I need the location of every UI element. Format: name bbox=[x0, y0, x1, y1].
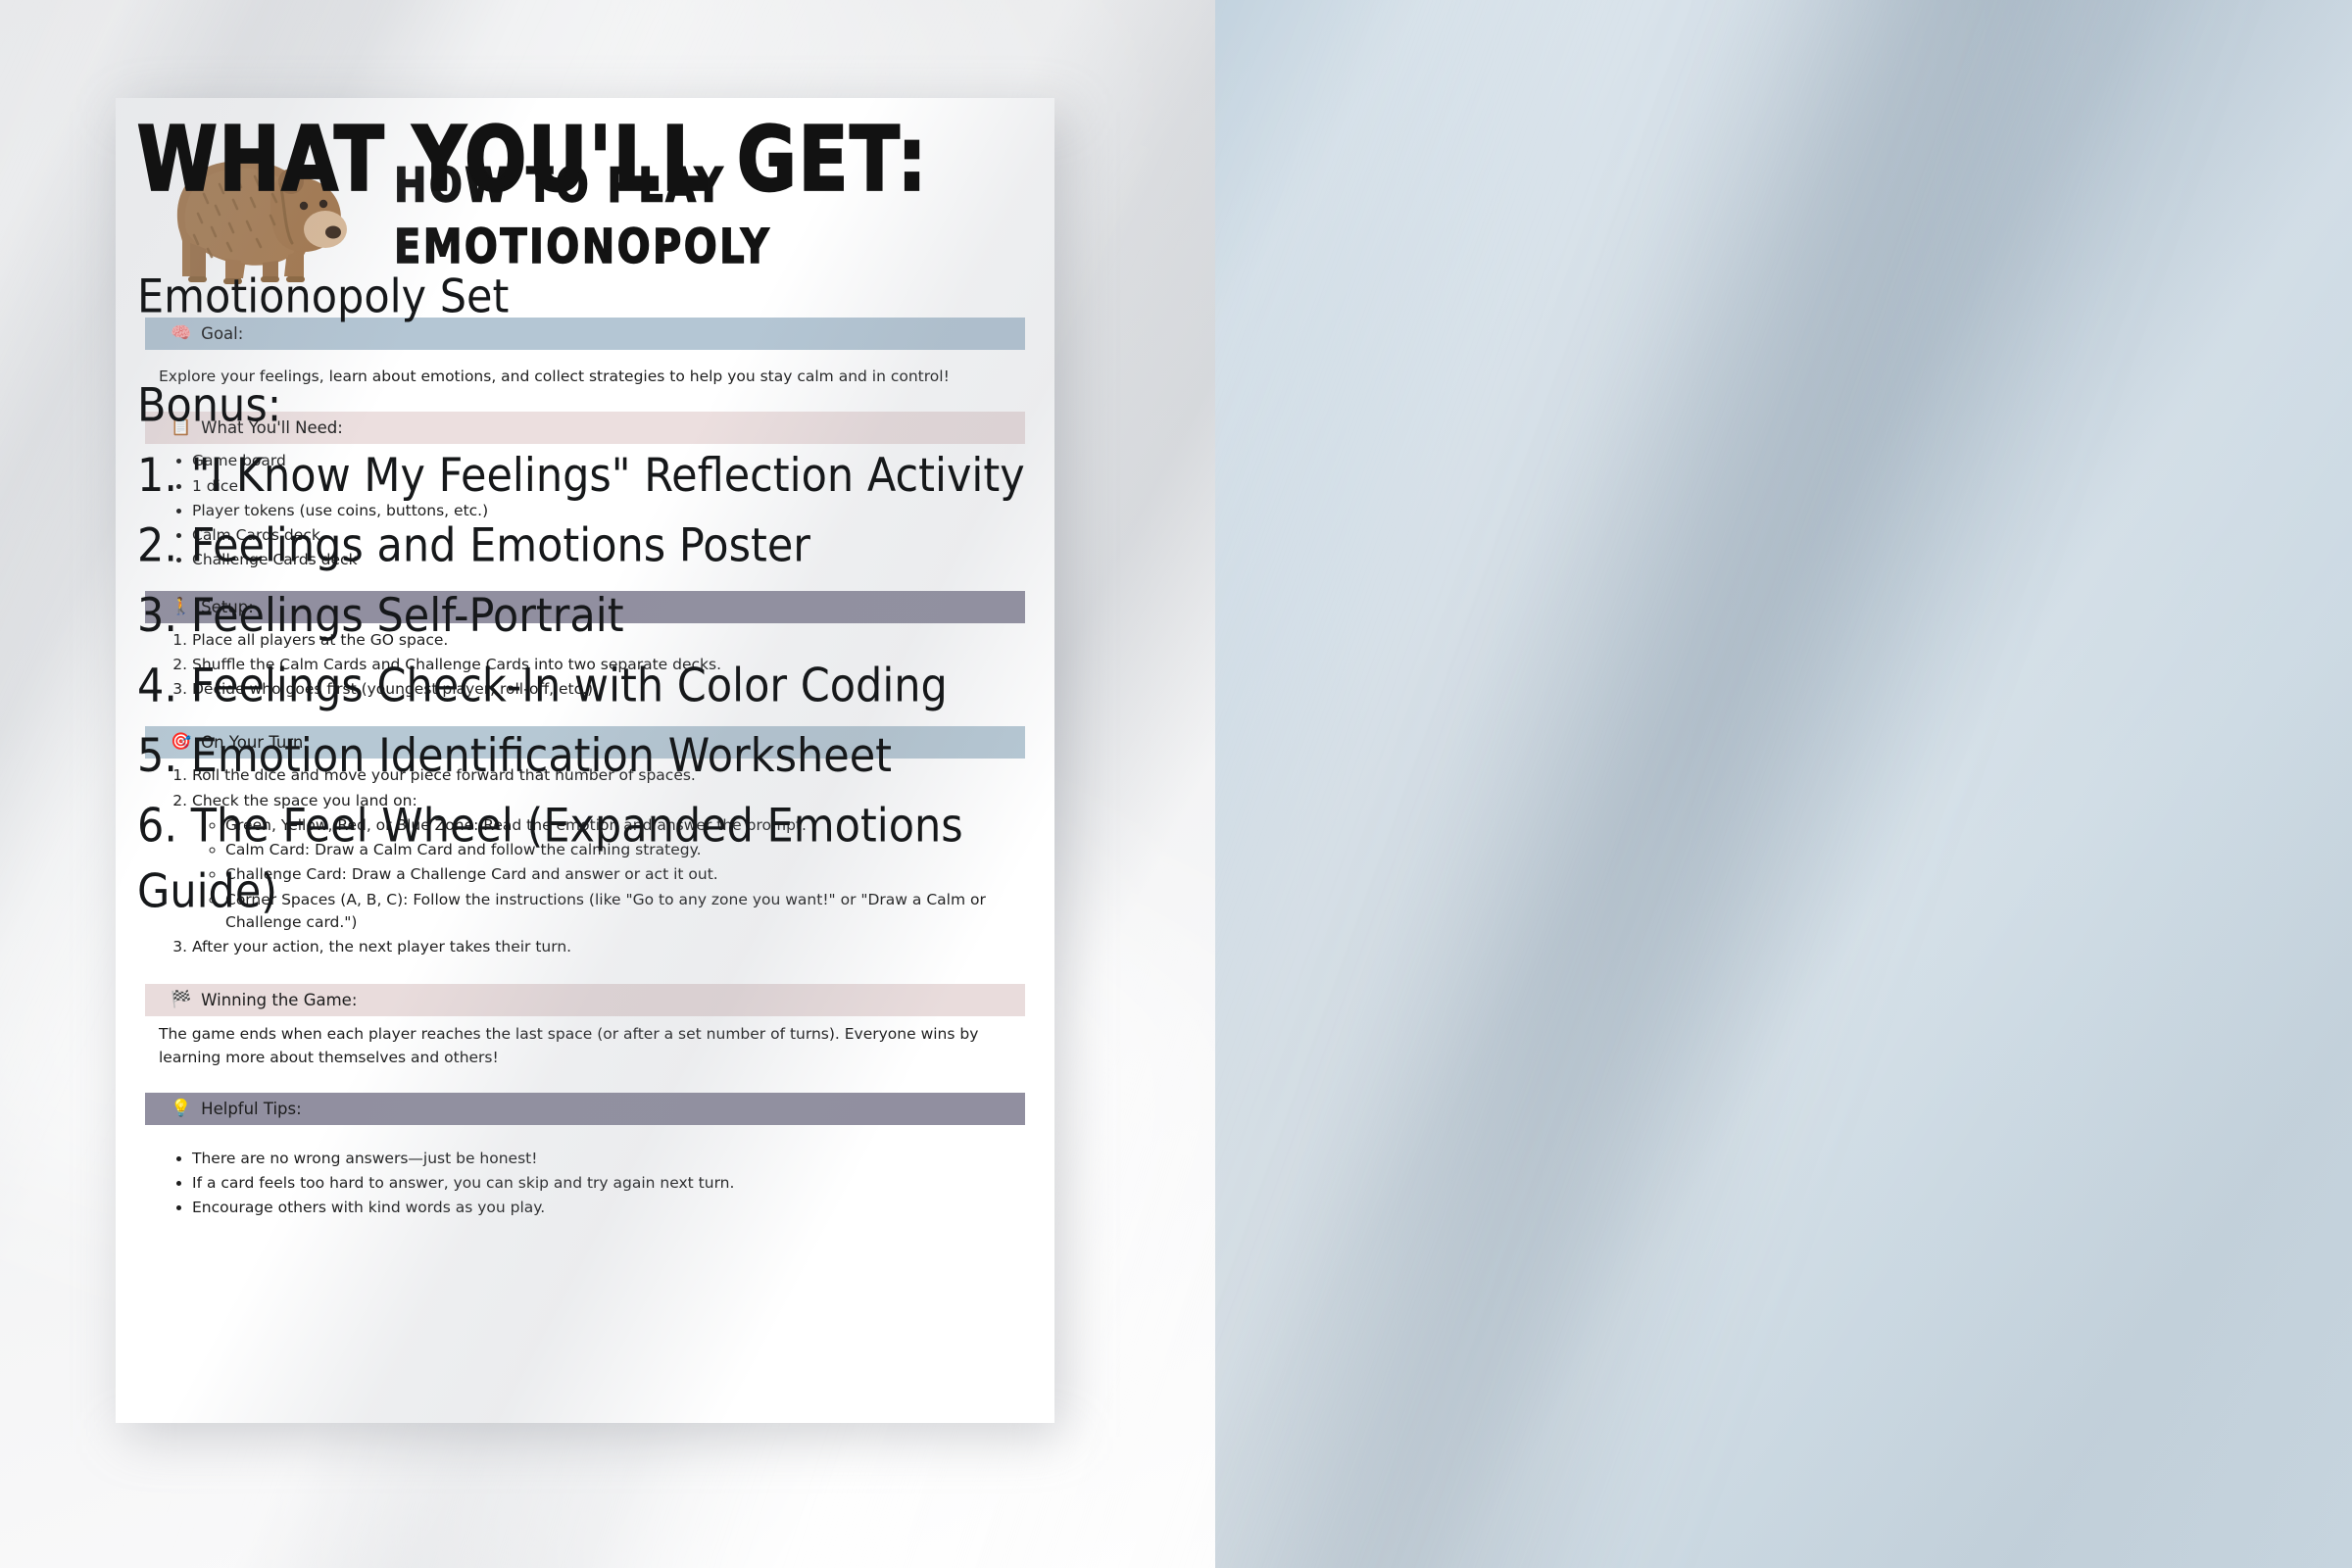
section-body-helpful-tips: There are no wrong answers—just be hones… bbox=[116, 1125, 1054, 1220]
right-panel-intro: Emotionopoly Set bbox=[137, 265, 1078, 330]
bonus-item: 4. Feelings Check-In with Color Coding bbox=[137, 654, 1078, 719]
lightbulb-icon: 💡 bbox=[171, 1101, 191, 1117]
bonus-item: 3. Feelings Self-Portrait bbox=[137, 584, 1078, 650]
right-panel-body: Emotionopoly Set Bonus: 1. "I Know My Fe… bbox=[137, 265, 1078, 926]
bonus-item: 1. "I Know My Feelings" Reflection Activ… bbox=[137, 444, 1078, 510]
list-item: There are no wrong answers—just be hones… bbox=[192, 1148, 1013, 1170]
tips-list: There are no wrong answers—just be hones… bbox=[159, 1148, 1013, 1220]
bonus-item: 2. Feelings and Emotions Poster bbox=[137, 514, 1078, 579]
right-panel-spacer bbox=[137, 335, 1078, 374]
checkered-flag-icon: 🏁 bbox=[171, 992, 191, 1008]
winning-paragraph: The game ends when each player reaches t… bbox=[159, 1023, 1013, 1069]
bonus-item: 5. Emotion Identification Worksheet bbox=[137, 724, 1078, 790]
section-header-helpful-tips: 💡 Helpful Tips: bbox=[145, 1093, 1025, 1125]
right-panel-heading: WHAT YOU'LL GET: bbox=[137, 116, 1078, 204]
list-item: If a card feels too hard to answer, you … bbox=[192, 1172, 1013, 1195]
screenshot-canvas: HOW TO PLAY EMOTIONOPOLY 🧠 Goal: Explore… bbox=[0, 0, 2352, 1568]
section-header-winning-the-game: 🏁 Winning the Game: bbox=[145, 984, 1025, 1016]
list-item: After your action, the next player takes… bbox=[192, 936, 1013, 958]
bonus-item: 6. The Feel Wheel (Expanded Emotions Gui… bbox=[137, 794, 1078, 925]
section-label-winning-the-game: Winning the Game: bbox=[201, 991, 357, 1009]
right-panel-background bbox=[1215, 0, 2352, 1568]
section-label-helpful-tips: Helpful Tips: bbox=[201, 1100, 302, 1118]
right-panel-bonus-label: Bonus: bbox=[137, 373, 1078, 439]
list-item: Encourage others with kind words as you … bbox=[192, 1197, 1013, 1219]
section-body-winning-the-game: The game ends when each player reaches t… bbox=[116, 1023, 1054, 1093]
right-panel-content: WHAT YOU'LL GET: Emotionopoly Set Bonus:… bbox=[137, 116, 1078, 869]
